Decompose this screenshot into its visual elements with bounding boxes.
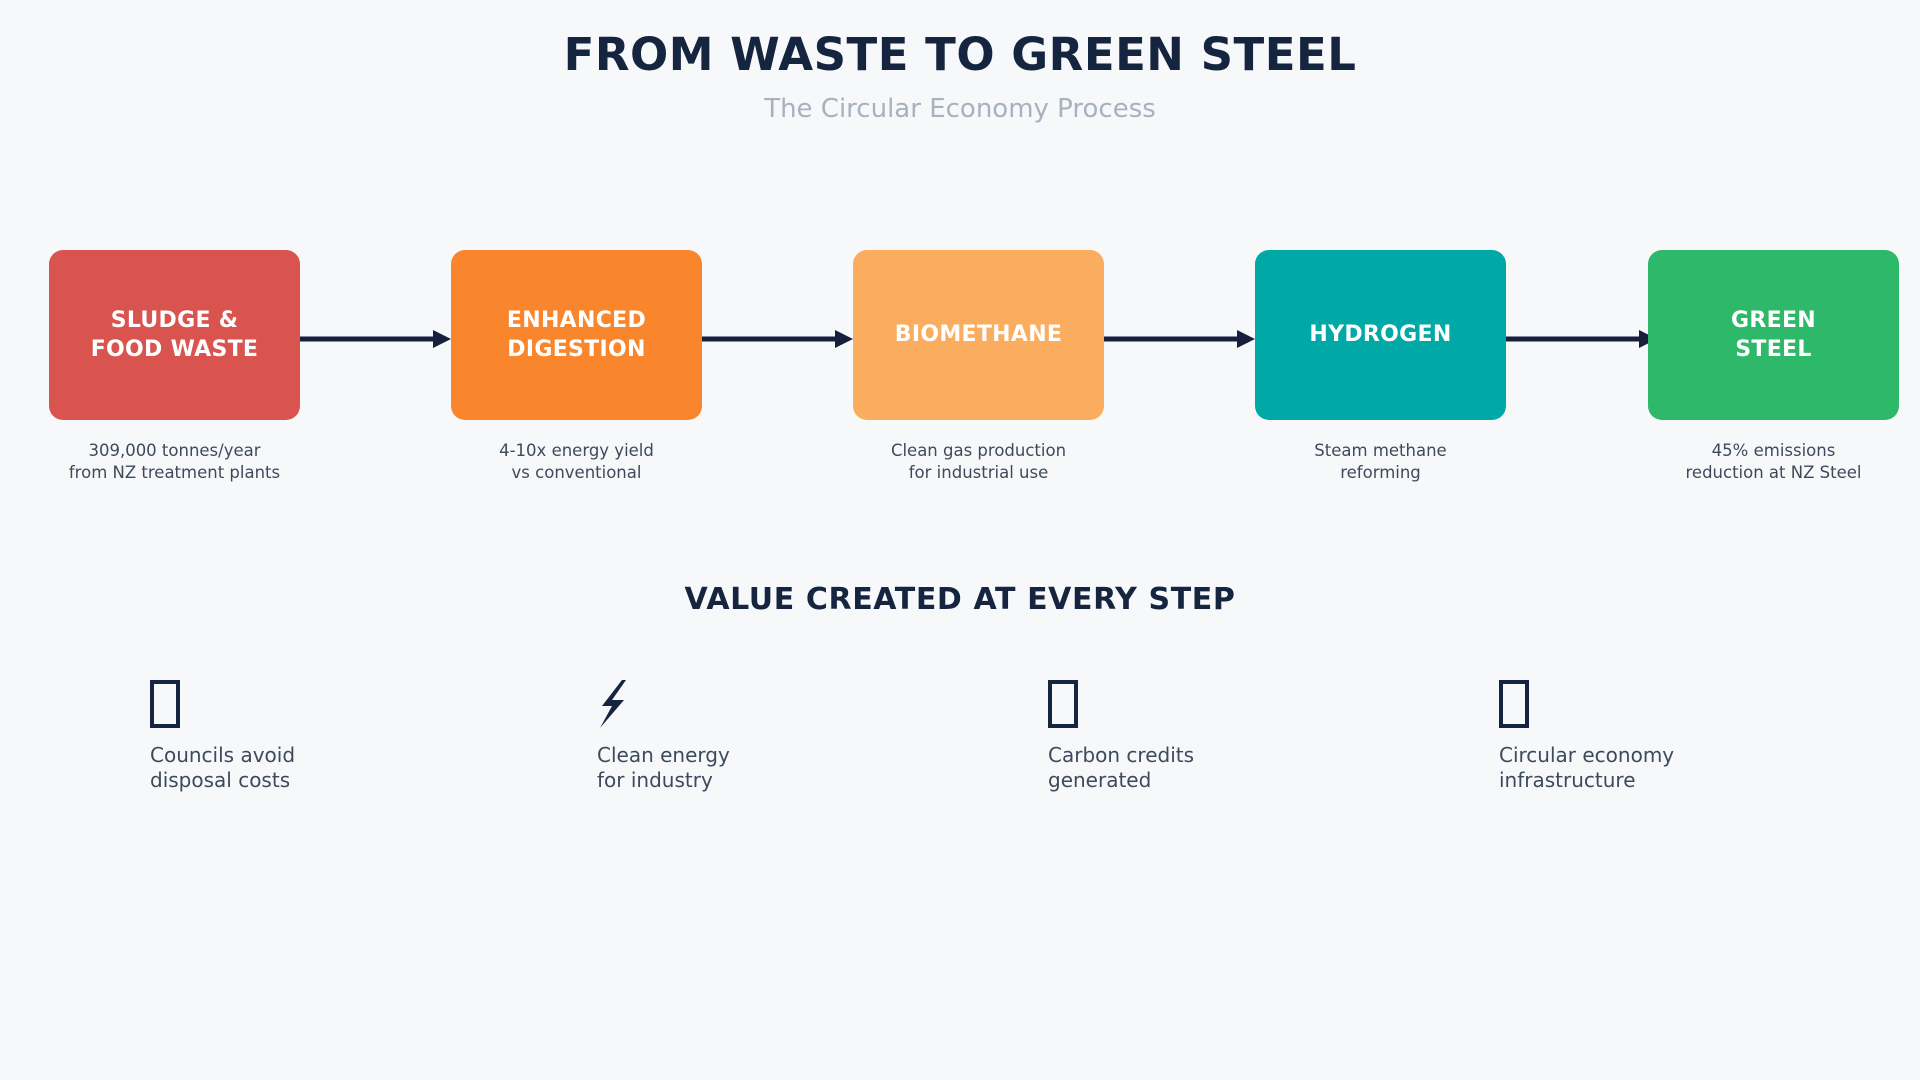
flow-step-label: HYDROGEN (1309, 320, 1451, 349)
flow-step-label: ENHANCED DIGESTION (507, 306, 646, 364)
page-title: FROM WASTE TO GREEN STEEL (0, 30, 1920, 80)
value-section-heading: VALUE CREATED AT EVERY STEP (0, 582, 1920, 617)
missing-glyph-box-icon (150, 680, 480, 736)
flow-arrow-4 (1506, 328, 1657, 350)
flow-arrow-1 (300, 328, 451, 350)
benefit-item-label: Circular economy infrastructure (1499, 743, 1829, 793)
flow-step-biomethane[interactable]: BIOMETHANE Clean gas production for indu… (853, 250, 1104, 484)
process-flow-diagram: SLUDGE & FOOD WASTE 309,000 tonnes/year … (0, 250, 1920, 490)
page-header: FROM WASTE TO GREEN STEEL The Circular E… (0, 30, 1920, 125)
page-subtitle: The Circular Economy Process (0, 94, 1920, 125)
missing-glyph-box-icon (1499, 680, 1829, 736)
flow-arrow-3 (1104, 328, 1255, 350)
value-benefits-list: Councils avoid disposal costs Clean ener… (150, 680, 1850, 820)
lightning-bolt-icon (597, 680, 927, 736)
benefit-item-label: Carbon credits generated (1048, 743, 1378, 793)
flow-step-hydrogen[interactable]: HYDROGEN Steam methane reforming (1255, 250, 1506, 484)
benefit-item-carbon-credits-generated: Carbon credits generated (1048, 680, 1378, 793)
flow-step-box[interactable]: BIOMETHANE (853, 250, 1104, 420)
flow-step-box[interactable]: HYDROGEN (1255, 250, 1506, 420)
flow-step-caption: 4-10x energy yield vs conventional (451, 440, 702, 484)
flow-step-caption: Clean gas production for industrial use (853, 440, 1104, 484)
flow-step-box[interactable]: ENHANCED DIGESTION (451, 250, 702, 420)
flow-step-label: BIOMETHANE (895, 320, 1062, 349)
benefit-item-circular-economy-infrastructure: Circular economy infrastructure (1499, 680, 1829, 793)
benefit-item-label: Clean energy for industry (597, 743, 927, 793)
flow-step-caption: 309,000 tonnes/year from NZ treatment pl… (49, 440, 300, 484)
flow-step-sludge-food-waste[interactable]: SLUDGE & FOOD WASTE 309,000 tonnes/year … (49, 250, 300, 484)
flow-step-label: SLUDGE & FOOD WASTE (91, 306, 259, 364)
flow-step-box[interactable]: SLUDGE & FOOD WASTE (49, 250, 300, 420)
flow-step-enhanced-digestion[interactable]: ENHANCED DIGESTION 4-10x energy yield vs… (451, 250, 702, 484)
flow-arrow-2 (702, 328, 853, 350)
flow-step-green-steel[interactable]: GREEN STEEL 45% emissions reduction at N… (1648, 250, 1899, 484)
benefit-item-councils-avoid-disposal-costs: Councils avoid disposal costs (150, 680, 480, 793)
flow-step-caption: 45% emissions reduction at NZ Steel (1648, 440, 1899, 484)
missing-glyph-box-icon (1048, 680, 1378, 736)
flow-step-box[interactable]: GREEN STEEL (1648, 250, 1899, 420)
benefit-item-label: Councils avoid disposal costs (150, 743, 480, 793)
flow-step-label: GREEN STEEL (1731, 306, 1816, 364)
benefit-item-clean-energy-for-industry: Clean energy for industry (597, 680, 927, 793)
flow-step-caption: Steam methane reforming (1255, 440, 1506, 484)
